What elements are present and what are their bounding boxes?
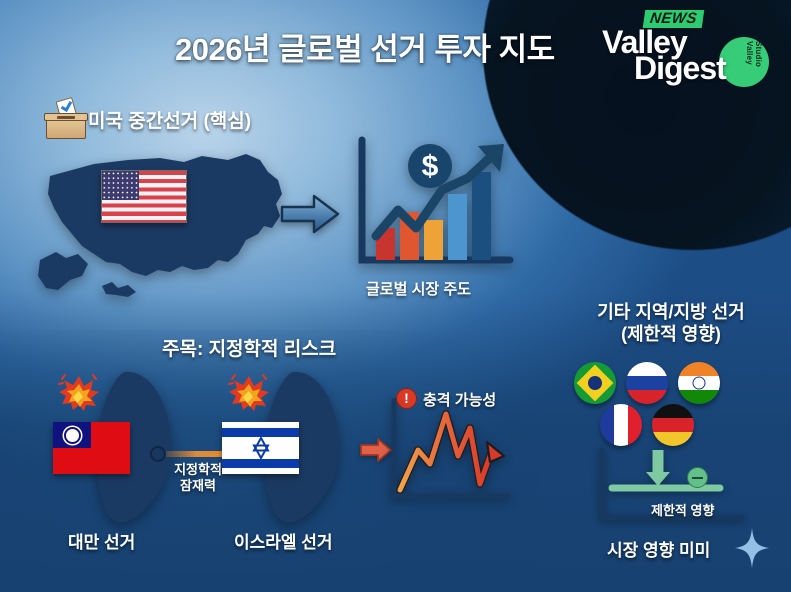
taiwan-flag-sun-icon [66, 429, 79, 442]
france-flag [600, 404, 642, 446]
logo-studio-text: Studio Valley [745, 41, 763, 90]
brazil-flag-field [574, 362, 616, 404]
logo-line2: Digest [634, 52, 726, 84]
star-of-david-icon [250, 437, 272, 459]
israel-flag [222, 422, 299, 474]
us-flag [101, 170, 187, 223]
brazil-flag [574, 362, 616, 404]
connector-dot-left [150, 446, 166, 462]
section-heading-geopolitics: 주목: 지정학적 리스크 [162, 334, 336, 361]
section-heading-other-regions: 기타 지역/지방 선거 (제한적 영향) [568, 302, 774, 346]
caption-geopolitical-potential-line2: 잠재력 [163, 478, 233, 494]
brazil-flag-globe [588, 376, 602, 390]
israel-flag-stripe-top [222, 428, 299, 437]
page-title: 2026년 글로벌 선거 투자 지도 [175, 24, 555, 69]
taiwan-flag [53, 422, 130, 474]
caption-israel-election: 이스라엘 선거 [234, 528, 333, 553]
france-flag-field [600, 404, 642, 446]
russia-flag-field [626, 362, 668, 404]
caption-taiwan-election: 대만 선거 [68, 528, 135, 553]
explosion-icon-taiwan [58, 374, 100, 412]
growth-bar-chart-icon: $ [350, 132, 520, 282]
caption-global-market-lead: 글로벌 시장 주도 [366, 278, 471, 299]
germany-flag-field [652, 404, 694, 446]
germany-flag [652, 404, 694, 446]
india-flag-field [678, 362, 720, 404]
caption-minimal-market-impact: 시장 영향 미미 [607, 536, 710, 561]
minus-circle-icon [687, 467, 708, 488]
shock-volatility-chart-icon [388, 398, 514, 510]
explosion-icon-israel [228, 374, 270, 412]
us-flag-canton [102, 171, 139, 200]
section-heading-other-regions-line2: (제한적 영향) [568, 324, 774, 346]
sparkle-icon [735, 528, 769, 568]
brand-logo: NEWS Studio Valley Valley Digest [600, 8, 775, 90]
ballot-box-icon [44, 101, 88, 139]
section-heading-us: 미국 중간선거 (핵심) [88, 106, 251, 133]
infographic-canvas: 2026년 글로벌 선거 투자 지도 NEWS Studio Valley Va… [0, 0, 791, 592]
russia-flag [626, 362, 668, 404]
india-flag-chakra-icon [693, 377, 706, 390]
caption-limited-impact: 제한적 영향 [651, 500, 714, 519]
section-heading-other-regions-line1: 기타 지역/지방 선거 [568, 302, 774, 324]
israel-flag-stripe-bottom [222, 459, 299, 468]
other-region-flags [566, 362, 776, 450]
arrow-right-icon [280, 192, 340, 236]
india-flag [678, 362, 720, 404]
ballot-box-slot [57, 116, 75, 119]
svg-text:$: $ [422, 150, 439, 183]
